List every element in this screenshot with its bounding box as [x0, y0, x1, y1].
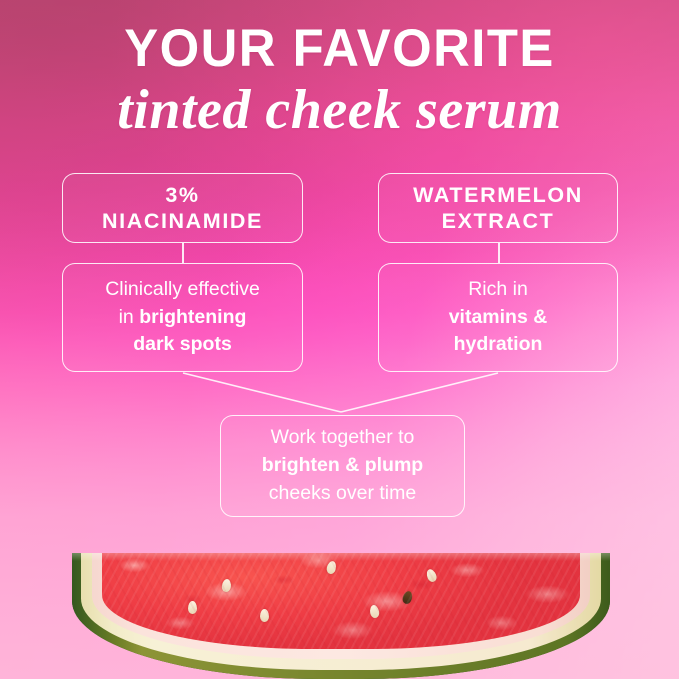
card-combined-result: Work together to brighten & plump cheeks…: [220, 415, 465, 517]
headline-script: tinted cheek serum: [0, 79, 679, 142]
watermelon-half: [72, 553, 610, 679]
benefit-left-line3-bold: dark spots: [133, 333, 232, 355]
watermelon-image: [0, 540, 679, 679]
watermelon-flesh: [102, 553, 580, 649]
benefit-left-line2-bold: brightening: [139, 306, 246, 328]
combined-line3: cheeks over time: [262, 480, 423, 508]
benefit-right-line2-bold: vitamins &: [449, 306, 548, 328]
benefit-left-line2: in brightening: [105, 304, 260, 332]
niacinamide-percent: 3%: [102, 182, 263, 208]
benefit-left-line2-prefix: in: [119, 306, 140, 328]
card-ingredient-niacinamide-title: 3% NIACINAMIDE: [102, 182, 263, 234]
benefit-right-line1: Rich in: [449, 276, 548, 304]
benefit-right-line3-bold: hydration: [454, 333, 543, 355]
card-combined-result-text: Work together to brighten & plump cheeks…: [262, 424, 423, 507]
connector-left-vertical: [182, 243, 184, 263]
watermelon-seed-dark: [401, 590, 414, 605]
card-ingredient-watermelon-title: WATERMELON EXTRACT: [413, 182, 583, 234]
watermelon-cut-highlight: [72, 553, 610, 561]
watermelon-extract-word: EXTRACT: [413, 208, 583, 234]
watermelon-body: [72, 553, 610, 679]
benefit-right-line3: hydration: [449, 331, 548, 359]
watermelon-seed: [369, 604, 380, 618]
niacinamide-name: NIACINAMIDE: [102, 208, 263, 234]
watermelon-seed: [221, 578, 232, 592]
headline-block: YOUR FAVORITE tinted cheek serum: [0, 22, 679, 141]
benefit-right-line2: vitamins &: [449, 304, 548, 332]
card-ingredient-watermelon: WATERMELON EXTRACT: [378, 173, 618, 243]
watermelon-seed: [325, 560, 337, 575]
headline-primary: YOUR FAVORITE: [14, 22, 666, 77]
combined-line2: brighten & plump: [262, 452, 423, 480]
card-benefit-watermelon-text: Rich in vitamins & hydration: [449, 276, 548, 359]
card-benefit-watermelon: Rich in vitamins & hydration: [378, 263, 618, 372]
card-ingredient-niacinamide: 3% NIACINAMIDE: [62, 173, 303, 243]
combined-line2-bold: brighten & plump: [262, 454, 423, 476]
combined-line1: Work together to: [262, 424, 423, 452]
card-benefit-niacinamide-text: Clinically effective in brightening dark…: [105, 276, 260, 359]
watermelon-seed: [425, 568, 438, 583]
watermelon-name: WATERMELON: [413, 182, 583, 208]
benefit-left-line3: dark spots: [105, 331, 260, 359]
card-benefit-niacinamide: Clinically effective in brightening dark…: [62, 263, 303, 372]
benefit-left-line1: Clinically effective: [105, 276, 260, 304]
watermelon-seed: [188, 601, 197, 614]
promo-graphic: YOUR FAVORITE tinted cheek serum 3% NIAC…: [0, 0, 679, 679]
connector-right-vertical: [498, 243, 500, 263]
watermelon-seed: [260, 609, 269, 622]
